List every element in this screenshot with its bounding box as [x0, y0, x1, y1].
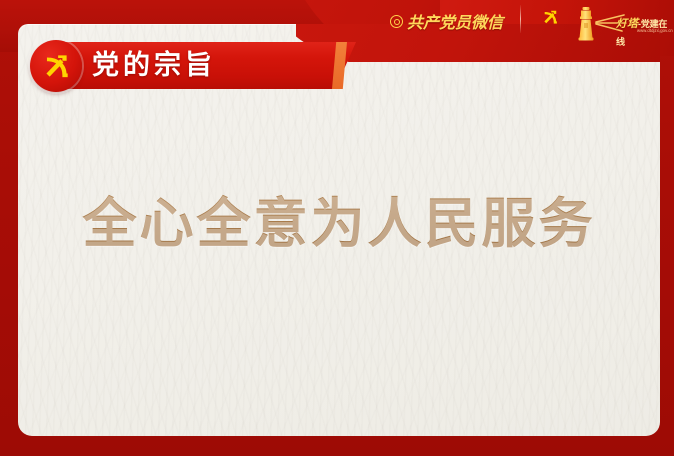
wechat-logo-label: 共产党员微信: [407, 9, 503, 33]
beacon-logo[interactable]: 灯塔-党建在线 www.dtdjzx.gov.cn: [538, 2, 670, 44]
at-circle-icon: [390, 15, 403, 28]
beacon-logo-url: www.dtdjzx.gov.cn: [637, 28, 673, 33]
top-right-logo-cluster: 共产党员微信: [382, 0, 674, 46]
beacon-logo-label: 灯塔: [616, 18, 638, 30]
logo-divider: [520, 5, 521, 33]
section-header-banner: 党的宗旨: [18, 40, 378, 94]
hammer-sickle-emblem-icon: [30, 40, 82, 92]
hammer-sickle-small-icon: [540, 7, 560, 32]
banner-title: 党的宗旨: [92, 48, 216, 82]
wechat-logo[interactable]: 共产党员微信: [390, 9, 503, 33]
main-headline: 全心全意为人民服务: [18, 192, 660, 256]
slide-root: 党的宗旨 共产党员微信: [0, 0, 674, 456]
